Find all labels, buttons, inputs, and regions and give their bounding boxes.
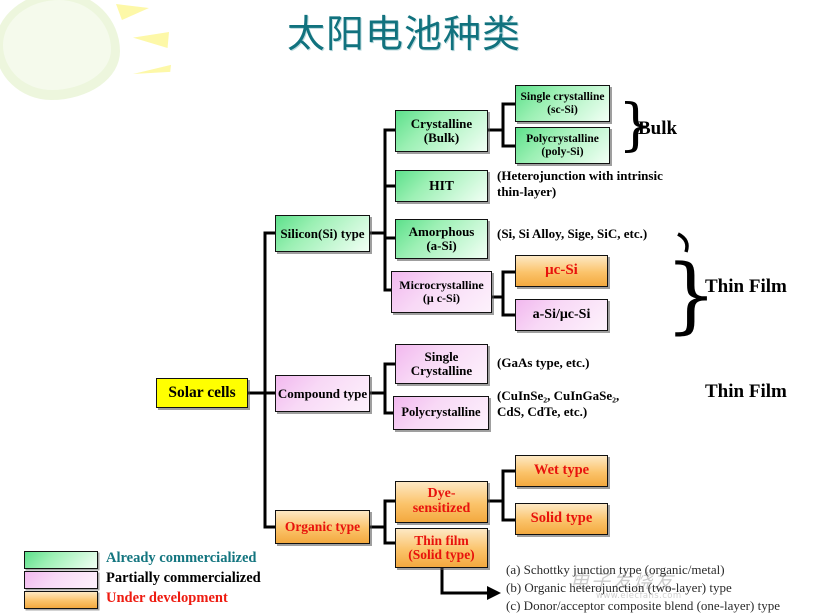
node-label: Microcrystalline (μ c-Si) — [399, 279, 483, 304]
node-silicon-type[interactable]: Silicon(Si) type — [275, 215, 370, 252]
note-compound-single: (GaAs type, etc.) — [497, 355, 589, 371]
node-label: Compound type — [278, 387, 367, 401]
node-dye-sensitized[interactable]: Dye- sensitized — [395, 481, 488, 523]
node-solar-cells[interactable]: Solar cells — [156, 378, 248, 408]
node-label: Crystalline (Bulk) — [411, 117, 472, 144]
node-label: Single Crystalline — [411, 350, 472, 377]
footnote-b: (b) Organic heterojunction (two-layer) t… — [506, 580, 732, 597]
node-label: Amorphous (a-Si) — [409, 225, 475, 252]
node-label: a-Si/μc-Si — [533, 308, 591, 323]
node-label: Polycrystalline (poly-Si) — [526, 133, 599, 157]
group-label-bulk: Bulk — [638, 118, 677, 140]
node-microcrystalline[interactable]: Microcrystalline (μ c-Si) — [391, 271, 492, 313]
node-organic-type[interactable]: Organic type — [275, 510, 370, 544]
group-label-thin-film-compound: Thin Film — [705, 381, 787, 403]
legend-label-partially: Partially commercialized — [106, 570, 261, 587]
footnote-arrowhead — [487, 586, 501, 600]
page-title: 太阳电池种类 — [287, 3, 521, 58]
legend-swatch-commercialized — [24, 551, 98, 569]
sun-ray-icon — [133, 62, 171, 78]
node-a-si-uc-si[interactable]: a-Si/μc-Si — [515, 299, 608, 331]
footnote-c: (c) Donor/acceptor composite blend (one-… — [506, 598, 780, 615]
node-solid-type[interactable]: Solid type — [515, 503, 608, 535]
node-polycrystalline-poly-si[interactable]: Polycrystalline (poly-Si) — [515, 127, 610, 164]
sun-blob-inner — [3, 0, 111, 90]
node-label: Solid type — [531, 511, 593, 526]
node-label: HIT — [429, 179, 454, 193]
node-label: Organic type — [285, 520, 360, 534]
footnote-a: (a) Schottky junction type (organic/meta… — [506, 562, 725, 579]
legend-label-commercialized: Already commercialized — [106, 550, 256, 567]
node-wet-type[interactable]: Wet type — [515, 455, 608, 487]
group-label-thin-film-silicon: Thin Film — [705, 276, 787, 298]
note-compound-poly: (CuInSe₂, CuInGaSe₂, CdS, CdTe, etc.) — [497, 388, 619, 420]
sun-ray-icon — [116, 4, 149, 20]
legend-swatch-partially — [24, 571, 98, 589]
node-label: Silicon(Si) type — [280, 227, 364, 241]
note-hit: (Heterojunction with intrinsic thin-laye… — [497, 168, 663, 200]
node-crystalline-bulk[interactable]: Crystalline (Bulk) — [395, 110, 488, 152]
node-label: Dye- sensitized — [413, 487, 471, 516]
node-label: Thin film (Solid type) — [408, 534, 474, 562]
node-compound-single-crystalline[interactable]: Single Crystalline — [395, 344, 488, 384]
node-compound-polycrystalline[interactable]: Polycrystalline — [393, 396, 489, 430]
node-organic-thin-film[interactable]: Thin film (Solid type) — [395, 528, 488, 568]
node-label: Wet type — [534, 463, 589, 478]
sun-ray-icon — [133, 32, 169, 48]
node-label: Single crystalline (sc-Si) — [520, 91, 604, 115]
diagram-canvas: 太阳电池种类 — [0, 0, 817, 616]
legend-swatch-development — [24, 591, 98, 609]
note-amorphous: (Si, Si Alloy, Sige, SiC, etc.) — [497, 226, 647, 242]
node-uc-si[interactable]: μc-Si — [515, 255, 608, 287]
node-label: Polycrystalline — [401, 406, 480, 419]
node-single-crystalline-sc-si[interactable]: Single crystalline (sc-Si) — [515, 85, 610, 122]
node-label: μc-Si — [545, 263, 578, 279]
node-amorphous[interactable]: Amorphous (a-Si) — [395, 219, 488, 259]
node-hit[interactable]: HIT — [395, 170, 488, 202]
sun-blob-decoration — [0, 0, 120, 100]
legend-label-development: Under development — [106, 590, 228, 607]
node-compound-type[interactable]: Compound type — [275, 375, 370, 412]
node-label: Solar cells — [168, 385, 235, 401]
